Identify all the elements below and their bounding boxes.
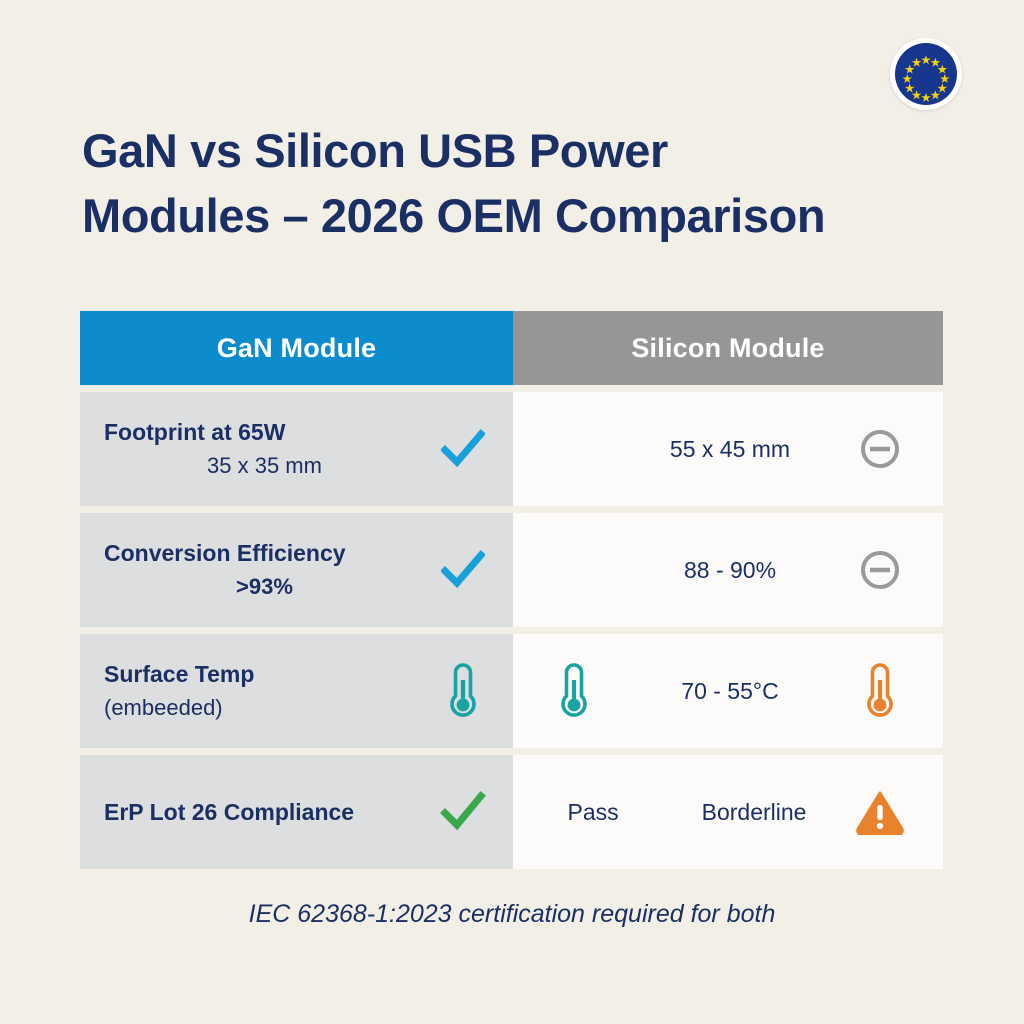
minus-circle-icon-glyph [859, 428, 901, 470]
row-1-silicon-value: 55 x 45 mm [617, 436, 843, 463]
row-1-gan-value: 35 x 35 mm [104, 452, 425, 481]
thermometer-icon-glyph [446, 660, 480, 722]
row-1-silicon-cell: 55 x 45 mm [513, 392, 943, 506]
minus-circle-icon [843, 428, 917, 470]
warning-triangle-icon [843, 789, 917, 835]
table-row: Conversion Efficiency >93% 88 - 90% [80, 513, 943, 627]
check-icon-glyph [441, 550, 485, 590]
row-3-silicon-value: 70 - 55°C [617, 678, 843, 705]
footnote: IEC 62368-1:2023 certification required … [0, 900, 1024, 929]
minus-circle-icon [843, 549, 917, 591]
title-line-1: GaN vs Silicon USB Power [82, 119, 912, 184]
row-4-gan-cell: ErP Lot 26 Compliance [80, 755, 513, 869]
minus-circle-icon-glyph [859, 549, 901, 591]
row-2-silicon-value: 88 - 90% [617, 557, 843, 584]
eu-flag-icon [895, 43, 957, 105]
row-4-label-block: ErP Lot 26 Compliance [104, 798, 425, 827]
table-header-row: GaN Module Silicon Module [80, 311, 943, 385]
check-icon-glyph [440, 791, 486, 833]
thermometer-icon [843, 660, 917, 722]
row-2-silicon-cell: 88 - 90% [513, 513, 943, 627]
row-1-gan-cell: Footprint at 65W 35 x 35 mm [80, 392, 513, 506]
warning-triangle-icon-glyph [855, 789, 905, 835]
thermometer-icon [425, 660, 501, 722]
check-icon-glyph [441, 429, 485, 469]
title-line-2: Modules – 2026 OEM Comparison [82, 184, 912, 249]
check-icon [425, 550, 501, 590]
row-4-value-pass: Pass [568, 799, 619, 826]
check-icon [425, 429, 501, 469]
row-3-label: Surface Temp [104, 660, 425, 689]
row-2-label: Conversion Efficiency [104, 539, 425, 568]
row-4-silicon-values: Pass Borderline [531, 799, 843, 826]
row-1-label-block: Footprint at 65W 35 x 35 mm [104, 418, 425, 480]
row-3-label-block: Surface Temp (embeeded) [104, 660, 425, 722]
eu-flag-badge [890, 38, 962, 110]
row-3-gan-cell: Surface Temp (embeeded) [80, 634, 513, 748]
check-icon [425, 791, 501, 833]
header-label-silicon: Silicon Module [513, 311, 943, 385]
row-2-gan-cell: Conversion Efficiency >93% [80, 513, 513, 627]
row-4-silicon-cell: Pass Borderline [513, 755, 943, 869]
row-4-value-borderline: Borderline [702, 799, 807, 826]
row-2-label-block: Conversion Efficiency >93% [104, 539, 425, 601]
header-label-gan: GaN Module [80, 311, 513, 385]
row-3-gan-value: (embeeded) [104, 694, 425, 723]
header-cell-silicon: Silicon Module [513, 311, 943, 385]
table-row: ErP Lot 26 Compliance Pass Borderline [80, 755, 943, 869]
page-title: GaN vs Silicon USB Power Modules – 2026 … [82, 119, 912, 249]
thermometer-icon [531, 660, 617, 722]
row-2-gan-value: >93% [104, 573, 425, 602]
row-1-label: Footprint at 65W [104, 418, 425, 447]
table-row: Surface Temp (embeeded) [80, 634, 943, 748]
thermometer-icon-glyph [557, 660, 591, 722]
thermometer-icon-glyph [863, 660, 897, 722]
header-cell-gan: GaN Module [80, 311, 513, 385]
row-3-silicon-cell: 70 - 55°C [513, 634, 943, 748]
comparison-table: GaN Module Silicon Module Footprint at 6… [80, 311, 943, 876]
row-4-label: ErP Lot 26 Compliance [104, 798, 425, 827]
table-row: Footprint at 65W 35 x 35 mm 55 x 45 mm [80, 392, 943, 506]
